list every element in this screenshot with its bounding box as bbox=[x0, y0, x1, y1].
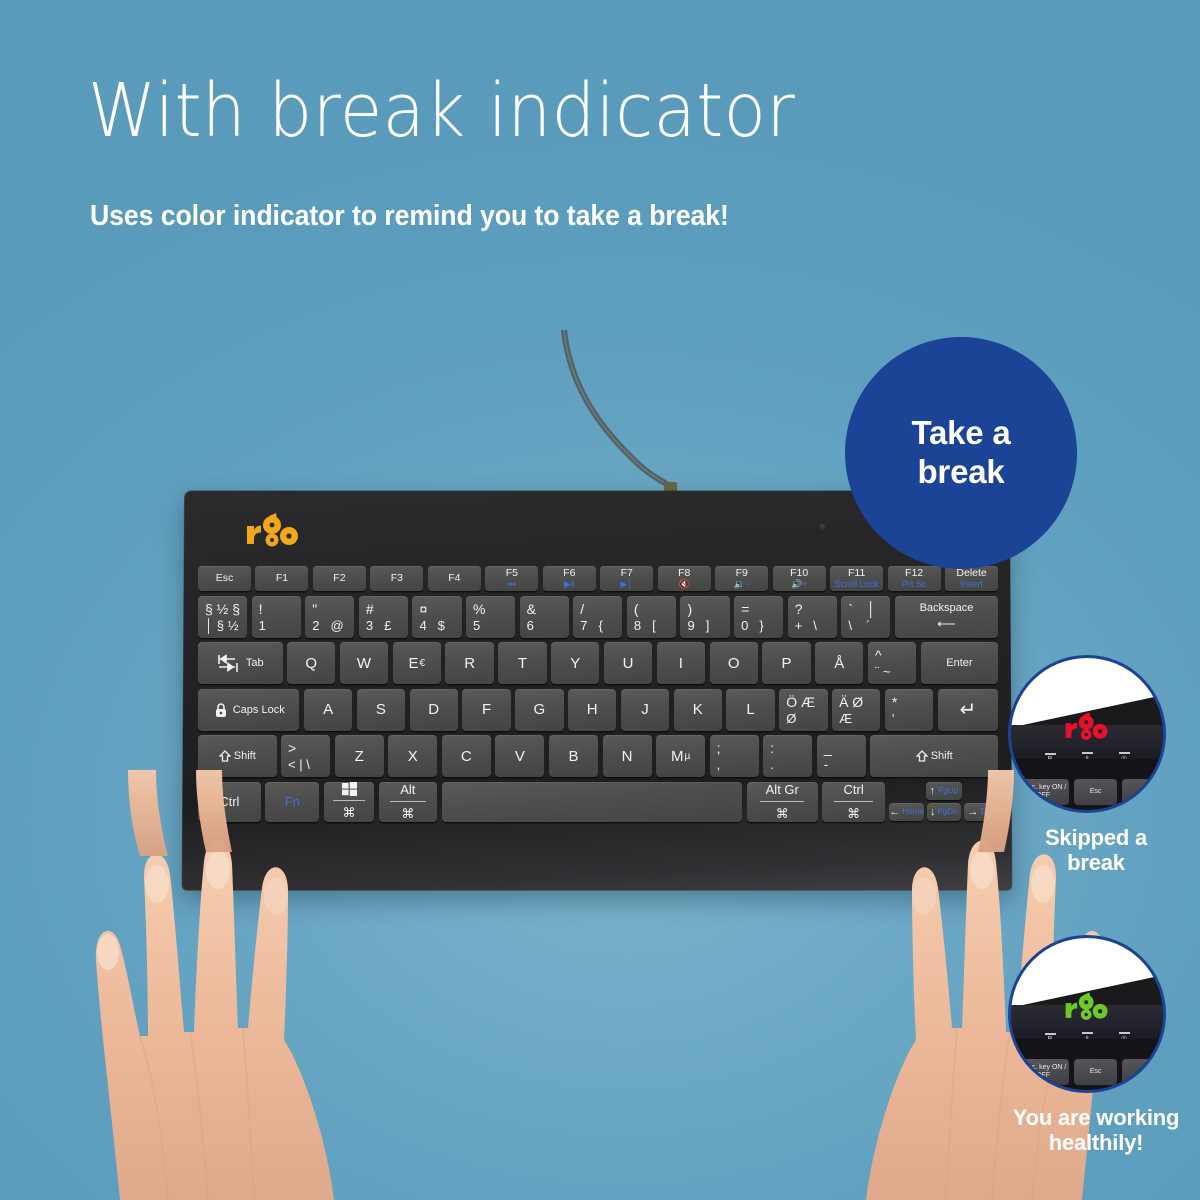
key-f6[interactable]: F6▶‖ bbox=[543, 566, 596, 591]
key-d[interactable]: D bbox=[410, 689, 458, 731]
shift-arrow-icon bbox=[916, 750, 928, 762]
inset-working-healthily: B ⇪ ① Func. key ON / OFF Esc You are wor… bbox=[1008, 935, 1184, 1156]
key-i[interactable]: I bbox=[657, 642, 705, 684]
key-diaeresis[interactable]: ^¨ ~ bbox=[868, 642, 916, 684]
promo-canvas: With break indicator Uses color indicato… bbox=[0, 0, 1200, 1200]
key-l[interactable]: L bbox=[726, 689, 774, 731]
key-q[interactable]: Q bbox=[287, 642, 335, 684]
inset-key-blank[interactable] bbox=[1122, 779, 1157, 805]
key-2[interactable]: "2@ bbox=[305, 596, 354, 638]
key-backspace[interactable]: Backspace⟵ bbox=[895, 596, 998, 638]
key-7[interactable]: /7{ bbox=[573, 596, 622, 638]
left-fingertips bbox=[128, 770, 232, 856]
key-enter[interactable]: ↵ bbox=[938, 689, 998, 731]
inset-key-func[interactable]: Func. key ON / OFF bbox=[1017, 779, 1069, 805]
key-delete[interactable]: DeleteInsert bbox=[945, 566, 998, 591]
key-9[interactable]: )9] bbox=[680, 596, 729, 638]
key-tab[interactable]: Tab bbox=[198, 642, 283, 684]
key-f[interactable]: F bbox=[462, 689, 510, 731]
key-row-function: Esc F1 F2 F3 F4 F5⏮ F6▶‖ F7▶│ F8🔇 F9🔉− F… bbox=[198, 566, 998, 591]
key-f9[interactable]: F9🔉− bbox=[715, 566, 768, 591]
key-f1[interactable]: F1 bbox=[255, 566, 308, 591]
caps-lock-icon bbox=[213, 702, 229, 718]
key-aring[interactable]: Å bbox=[815, 642, 863, 684]
take-a-break-badge: Take a break bbox=[845, 337, 1077, 569]
key-3[interactable]: #3£ bbox=[359, 596, 408, 638]
key-f3[interactable]: F3 bbox=[370, 566, 423, 591]
key-8[interactable]: (8[ bbox=[627, 596, 676, 638]
key-enter-top[interactable]: Enter bbox=[921, 642, 998, 684]
key-e[interactable]: E€ bbox=[393, 642, 441, 684]
key-f4[interactable]: F4 bbox=[428, 566, 481, 591]
key-r[interactable]: R bbox=[445, 642, 493, 684]
key-plus[interactable]: ?+\ bbox=[788, 596, 837, 638]
rgo-logo-icon bbox=[245, 512, 301, 552]
inset-key-row: Func. key ON / OFF Esc bbox=[1011, 759, 1163, 810]
inset-photo-healthy: B ⇪ ① Func. key ON / OFF Esc bbox=[1008, 935, 1166, 1093]
key-f7[interactable]: F7▶│ bbox=[600, 566, 653, 591]
shift-arrow-icon bbox=[219, 750, 231, 762]
page-title: With break indicator bbox=[88, 74, 795, 148]
key-f5[interactable]: F5⏮ bbox=[485, 566, 538, 591]
tab-arrows-icon bbox=[217, 653, 243, 673]
badge-label: Take a break bbox=[911, 414, 1010, 492]
key-ae[interactable]: Ä ØÆ bbox=[832, 689, 880, 731]
inset-key-esc[interactable]: Esc bbox=[1074, 1059, 1117, 1085]
key-s[interactable]: S bbox=[357, 689, 405, 731]
key-w[interactable]: W bbox=[340, 642, 388, 684]
key-f10[interactable]: F10🔊+ bbox=[773, 566, 826, 591]
page-subtitle: Uses color indicator to remind you to ta… bbox=[90, 196, 789, 237]
inset-key-esc[interactable]: Esc bbox=[1074, 779, 1117, 805]
key-h[interactable]: H bbox=[568, 689, 616, 731]
key-esc[interactable]: Esc bbox=[198, 566, 251, 591]
rgo-logo-icon bbox=[1064, 711, 1110, 745]
key-caps-lock[interactable]: Caps Lock bbox=[198, 689, 299, 731]
key-6[interactable]: &6 bbox=[520, 596, 569, 638]
key-f11[interactable]: F11Scroll Lock bbox=[830, 566, 883, 591]
key-4[interactable]: ¤4$ bbox=[412, 596, 461, 638]
key-t[interactable]: T bbox=[498, 642, 546, 684]
left-hand bbox=[96, 840, 334, 1200]
key-acute[interactable]: `│\´ bbox=[841, 596, 890, 638]
inset-caption-healthy: You are working healthily! bbox=[1008, 1105, 1184, 1156]
inset-key-blank[interactable] bbox=[1122, 1059, 1157, 1085]
key-oslash[interactable]: Ö ÆØ bbox=[779, 689, 827, 731]
inset-caption-skipped: Skipped a break bbox=[1008, 825, 1184, 876]
key-section[interactable]: § ½ §│ § ½ bbox=[198, 596, 247, 638]
key-5[interactable]: %5 bbox=[466, 596, 515, 638]
inset-key-row: Func. key ON / OFF Esc bbox=[1011, 1039, 1163, 1090]
inset-skipped-a-break: B ⇪ ① Func. key ON / OFF Esc Skipped a b… bbox=[1008, 655, 1184, 876]
key-f2[interactable]: F2 bbox=[313, 566, 366, 591]
key-o[interactable]: O bbox=[710, 642, 758, 684]
key-f12[interactable]: F12Prt Sc bbox=[888, 566, 941, 591]
inset-photo-skipped: B ⇪ ① Func. key ON / OFF Esc bbox=[1008, 655, 1166, 813]
key-y[interactable]: Y bbox=[551, 642, 599, 684]
key-row-home: Caps Lock A S D F G H J K L Ö ÆØ Ä ØÆ *'… bbox=[198, 689, 998, 731]
key-row-qwerty: Tab Q W E€ R T Y U I O P Å ^¨ ~ Enter bbox=[198, 642, 998, 684]
key-0[interactable]: =0} bbox=[734, 596, 783, 638]
key-j[interactable]: J bbox=[621, 689, 669, 731]
key-a[interactable]: A bbox=[304, 689, 352, 731]
key-row-number: § ½ §│ § ½ !1 "2@ #3£ ¤4$ %5 &6 /7{ (8[ … bbox=[198, 596, 998, 638]
inset-key-func[interactable]: Func. key ON / OFF bbox=[1017, 1059, 1069, 1085]
key-g[interactable]: G bbox=[515, 689, 563, 731]
key-p[interactable]: P bbox=[762, 642, 810, 684]
status-led bbox=[820, 524, 825, 529]
key-f8[interactable]: F8🔇 bbox=[658, 566, 711, 591]
key-1[interactable]: !1 bbox=[252, 596, 301, 638]
key-k[interactable]: K bbox=[674, 689, 722, 731]
key-asterisk[interactable]: *' bbox=[885, 689, 933, 731]
rgo-logo-icon bbox=[1064, 991, 1110, 1025]
key-u[interactable]: U bbox=[604, 642, 652, 684]
